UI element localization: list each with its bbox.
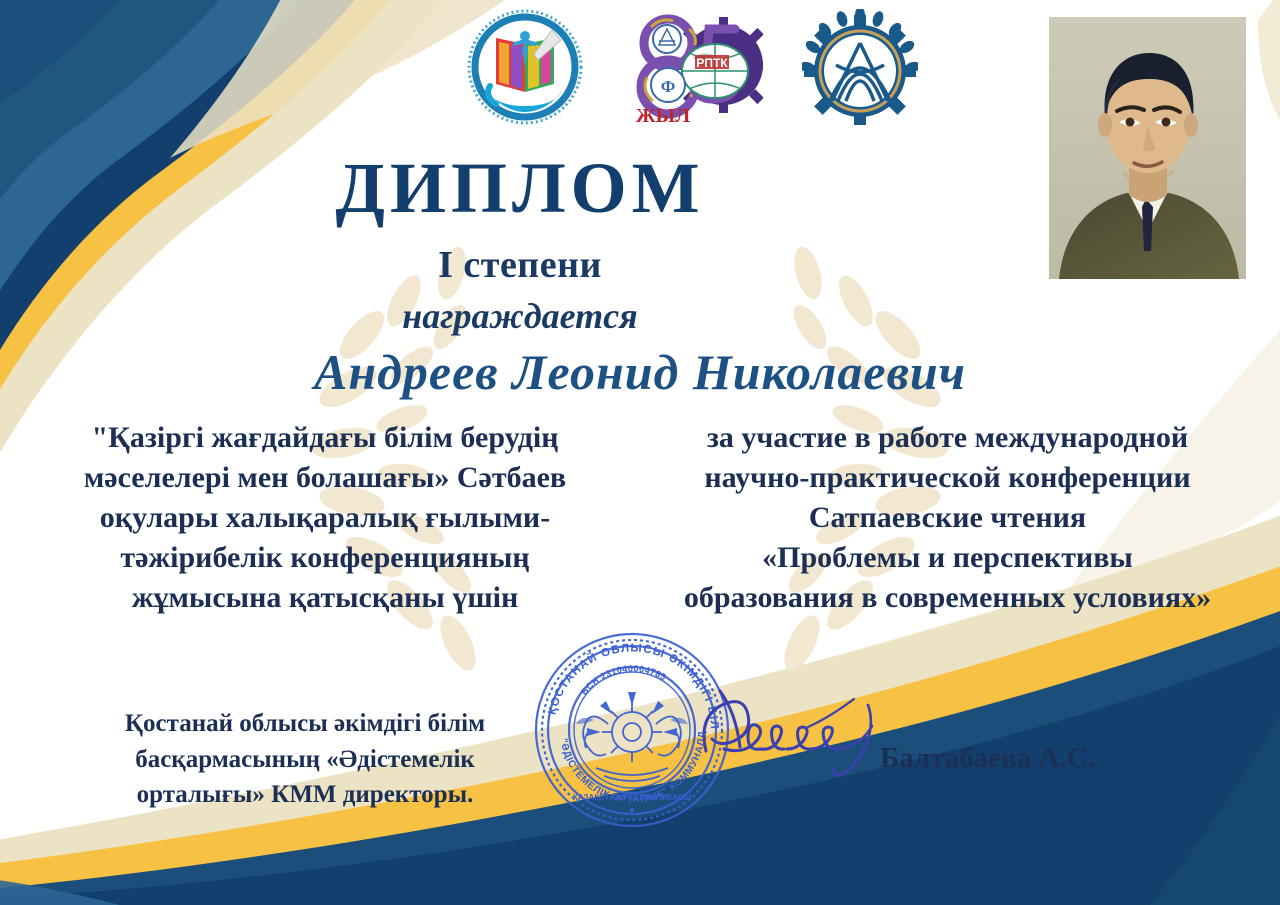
body-kz-line: тәжірибелік конференцияның: [30, 538, 620, 578]
education-emblem-icon: [466, 8, 584, 126]
certificate-page: РПТК Ф ЖЫЛ: [0, 0, 1280, 905]
body-ru-line: научно-практической конференции: [640, 458, 1255, 498]
top-left-inner-navy: [0, 0, 150, 148]
bottom-left-blue-tip: [0, 876, 120, 905]
signer-name: Балтабаева А.С.: [880, 742, 1180, 775]
technical-college-logo: [802, 9, 918, 130]
anniversary-85-icon: РПТК Ф ЖЫЛ: [623, 7, 763, 127]
recipient-name: Андреев Леонид Николаевич: [0, 343, 1280, 401]
awarded-label: награждается: [0, 295, 1040, 337]
body-ru-line: за участие в работе международной: [640, 418, 1255, 458]
signatory-org-line: Қостанай облысы әкімдігі білім: [60, 706, 550, 742]
svg-text:БСН 231040004785: БСН 231040004785: [579, 663, 668, 696]
seal-bin-text: БСН 231040004785: [579, 663, 668, 696]
body-text-kazakh: "Қазіргі жағдайдағы білім берудің мәселе…: [30, 418, 620, 617]
handwritten-signature: [690, 665, 905, 795]
portrait-image: [1049, 17, 1246, 279]
signatory-org-line: басқармасының «Әдістемелік: [60, 742, 550, 778]
logo-row: РПТК Ф ЖЫЛ: [466, 8, 918, 130]
top-right-cream-sliver: [1258, 0, 1280, 120]
college-badge-mid: Ф: [651, 68, 685, 102]
signatory-org-line: орталығы» КММ директоры.: [60, 777, 550, 813]
body-kz-line: мәселелері мен болашағы» Сәтбаев: [30, 458, 620, 498]
body-text-russian: за участие в работе международной научно…: [640, 418, 1255, 617]
body-kz-line: жұмысына қатысқаны үшін: [30, 578, 620, 618]
svg-text:Ф: Ф: [661, 77, 676, 96]
rptk-globe-emblem: РПТК: [682, 44, 748, 98]
degree-label: I степени: [0, 243, 1040, 287]
anniversary-85-logo: РПТК Ф ЖЫЛ: [623, 7, 763, 132]
signatory-org-block: Қостанай облысы әкімдігі білім басқармас…: [60, 706, 550, 813]
satpayev-portrait: [1046, 14, 1249, 282]
education-book-hand-logo: [466, 8, 584, 131]
seal-inner-text: ҚАЗАҚСТАН РЕСПУБЛИКАСЫ: [573, 793, 691, 802]
body-ru-line: «Проблемы и перспективы: [640, 538, 1255, 578]
body-kz-line: "Қазіргі жағдайдағы білім берудің: [30, 418, 620, 458]
body-ru-line: образования в современных условиях»: [640, 578, 1255, 618]
page-title: ДИПЛОМ: [0, 152, 1040, 224]
body-kz-line: оқулары халықаралық ғылыми-: [30, 498, 620, 538]
anniversary-word: ЖЫЛ: [636, 105, 690, 127]
kazakhstan-coat-of-arms: [576, 692, 688, 781]
college-badge-small: [653, 25, 681, 53]
college-gear-emblem-icon: [802, 9, 918, 125]
body-ru-line: Сатпаевские чтения: [640, 498, 1255, 538]
svg-text:РПТК: РПТК: [696, 56, 728, 70]
